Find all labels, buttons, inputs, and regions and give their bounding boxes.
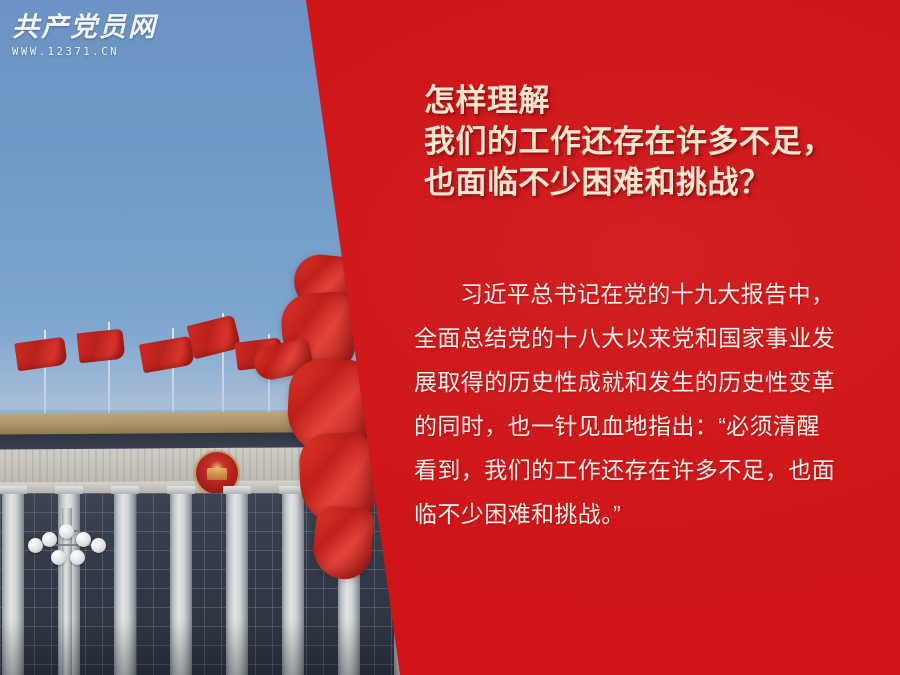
poster-canvas: 共产党员网 WWW.12371.CN 怎样理解 我们的工作还存在许多不足， 也面… bbox=[0, 0, 900, 675]
site-logo[interactable]: 共产党员网 WWW.12371.CN bbox=[12, 14, 162, 58]
drape-segment bbox=[311, 505, 375, 582]
body-line-4: 的同时，也一针见血地指出：“必须清醒 bbox=[414, 404, 858, 448]
body-line-3: 展取得的历史性成就和发生的历史性变革 bbox=[414, 360, 858, 404]
body-line-5: 看到，我们的工作还存在许多不足，也面 bbox=[414, 448, 858, 492]
lamp-globe-icon bbox=[42, 532, 57, 547]
lamp-globe-icon bbox=[28, 538, 43, 553]
logo-url: WWW.12371.CN bbox=[12, 46, 162, 58]
body-line-1: 习近平总书记在党的十九大报告中， bbox=[414, 272, 858, 316]
lamp-globe-icon bbox=[91, 538, 106, 553]
street-lamp-head bbox=[28, 524, 106, 566]
body-line-2: 全面总结党的十八大以来党和国家事业发 bbox=[414, 316, 858, 360]
draped-red-flag bbox=[238, 255, 368, 595]
headline-line-1: 怎样理解 bbox=[424, 80, 864, 121]
logo-wordmark: 共产党员网 bbox=[12, 14, 162, 41]
headline-line-3: 也面临不少困难和挑战？ bbox=[424, 162, 864, 203]
photo-bottom-vignette bbox=[0, 620, 420, 675]
body-copy: 习近平总书记在党的十九大报告中， 全面总结党的十八大以来党和国家事业发 展取得的… bbox=[414, 272, 858, 536]
headline-line-2: 我们的工作还存在许多不足， bbox=[424, 121, 864, 162]
body-line-6: 临不少困难和挑战。” bbox=[414, 492, 858, 536]
headline: 怎样理解 我们的工作还存在许多不足， 也面临不少困难和挑战？ bbox=[424, 80, 864, 203]
lamp-globe-icon bbox=[76, 532, 91, 547]
lamp-globe-icon bbox=[59, 524, 74, 539]
lamp-globe-icon bbox=[51, 550, 66, 565]
lamp-globe-icon bbox=[70, 550, 85, 565]
roof-flag-icon bbox=[77, 329, 126, 364]
